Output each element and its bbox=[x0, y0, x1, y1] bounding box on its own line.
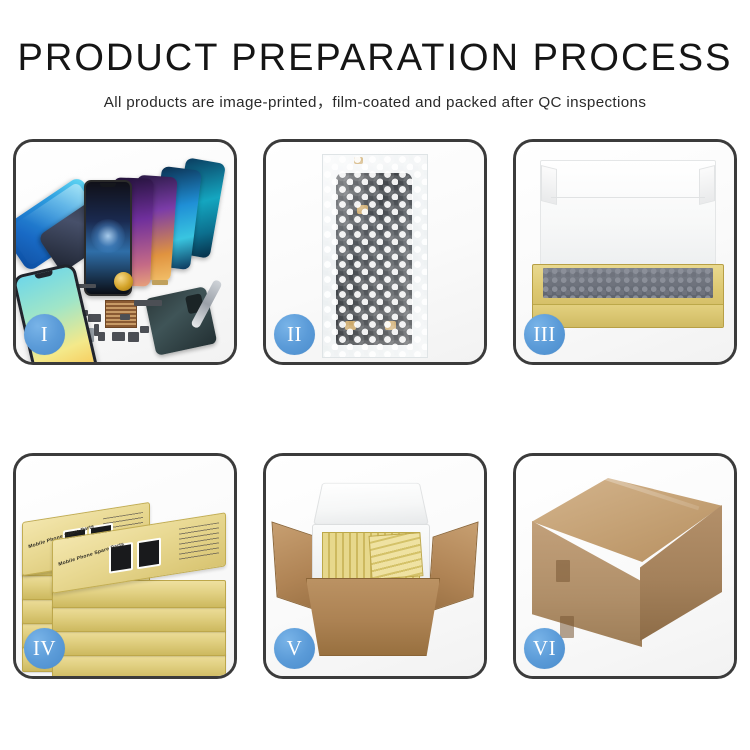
panel-6-numeral-badge: VI bbox=[524, 628, 565, 669]
process-panel-grid: I II bbox=[13, 139, 737, 679]
panel-1-numeral-badge: I bbox=[24, 314, 65, 355]
process-panel-5-foam-carton: V bbox=[263, 453, 487, 679]
process-panel-1-product-parts: I bbox=[13, 139, 237, 365]
process-panel-4-box-stack: Mobile Phone Spare Parts Mobile Phone Sp… bbox=[13, 453, 237, 679]
page-header: PRODUCT PREPARATION PROCESS All products… bbox=[0, 0, 750, 112]
process-panel-2-bubble-wrap: II bbox=[263, 139, 487, 365]
lid-flap-right bbox=[699, 165, 715, 205]
process-panel-6-sealed-carton: VI bbox=[513, 453, 737, 679]
page-title: PRODUCT PREPARATION PROCESS bbox=[0, 0, 750, 77]
sealed-carton bbox=[530, 478, 724, 656]
lid-crease bbox=[551, 197, 705, 198]
box-window-right bbox=[137, 538, 161, 570]
open-inner-box bbox=[532, 160, 722, 340]
plastic-sheen bbox=[323, 155, 427, 357]
panel-3-numeral-badge: III bbox=[524, 314, 565, 355]
carton-tape-patch bbox=[556, 560, 570, 582]
panel-2-numeral-badge: II bbox=[274, 314, 315, 355]
white-box-lid bbox=[540, 160, 716, 274]
page-subtitle: All products are image-printed，film-coat… bbox=[0, 77, 750, 112]
packed-boxes-secondary bbox=[369, 532, 424, 580]
notch-icon bbox=[100, 183, 116, 187]
kraft-box-tray bbox=[532, 264, 724, 328]
carton-body bbox=[306, 578, 440, 656]
panel-5-numeral-badge: V bbox=[274, 628, 315, 669]
lid-flap-left bbox=[541, 165, 557, 205]
spare-parts-group bbox=[72, 270, 237, 358]
phone-fan-group bbox=[82, 158, 232, 280]
box-stack-front: Mobile Phone Spare Parts bbox=[52, 526, 224, 666]
foam-lid bbox=[313, 483, 429, 525]
panel-4-numeral-badge: IV bbox=[24, 628, 65, 669]
process-panel-3-inner-box: III bbox=[513, 139, 737, 365]
carton-tape-patch bbox=[560, 616, 574, 638]
printed-text-lines bbox=[179, 522, 219, 562]
bubble-wrapped-contents bbox=[543, 268, 713, 298]
speaker-coil-icon bbox=[114, 272, 133, 291]
bubble-wrap-bag bbox=[322, 154, 428, 358]
